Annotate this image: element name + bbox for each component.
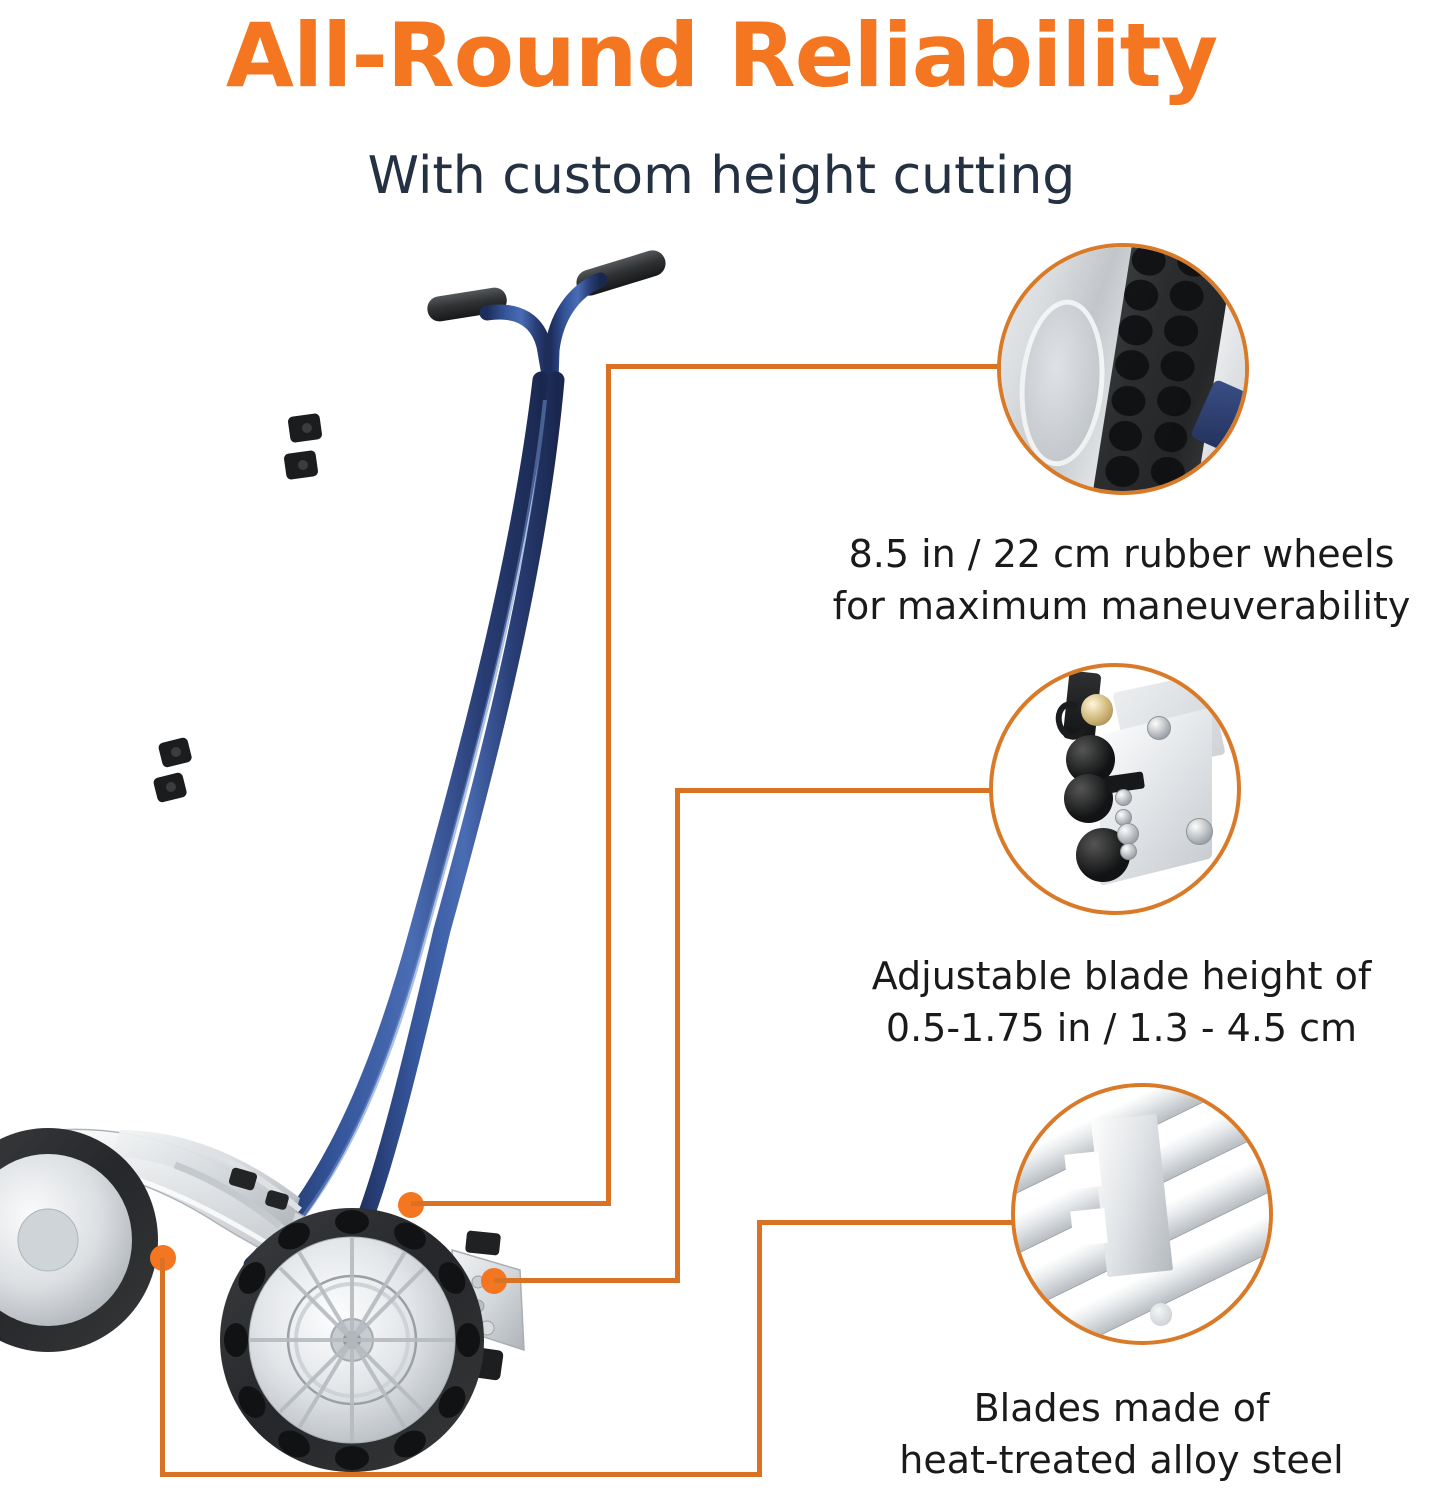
leader-line-steel-v2 [757, 1220, 762, 1477]
callout-text-alloy-steel: Blades made of heat-treated alloy steel [800, 1382, 1443, 1486]
leader-line-steel-h2 [757, 1220, 1019, 1225]
callout-steel-line1: Blades made of [800, 1382, 1443, 1434]
leader-line-wheels-v [606, 364, 611, 1204]
handle-assembly [153, 247, 669, 1265]
leader-line-blade-h2 [675, 788, 1000, 793]
callout-text-wheels: 8.5 in / 22 cm rubber wheels for maximum… [800, 528, 1443, 632]
right-wheel [220, 1208, 484, 1472]
inset-reel-blades [1011, 1083, 1273, 1345]
callout-blade-line2: 0.5-1.75 in / 1.3 - 4.5 cm [800, 1002, 1443, 1054]
callout-text-blade-height: Adjustable blade height of 0.5-1.75 in /… [800, 950, 1443, 1054]
page-subtitle: With custom height cutting [0, 140, 1443, 212]
reel-rivet [1150, 1303, 1173, 1326]
product-illustration [0, 230, 830, 1500]
page-title: All-Round Reliability [0, 4, 1443, 108]
leader-line-blade-v [675, 788, 680, 1283]
callout-wheels-line2: for maximum maneuverability [800, 580, 1443, 632]
inset-rubber-wheel-tread [997, 243, 1249, 495]
adjuster-bolt-6 [1147, 716, 1171, 740]
callout-steel-line2: heat-treated alloy steel [800, 1434, 1443, 1486]
leader-line-wheels-h2 [606, 364, 1004, 369]
adjuster-brass-nut [1081, 694, 1113, 726]
infographic-canvas: All-Round Reliability With custom height… [0, 0, 1443, 1500]
adjuster-bolt-4 [1120, 843, 1137, 860]
leader-line-steel-h1 [160, 1472, 762, 1477]
adjuster-bolt-5 [1186, 818, 1213, 845]
leader-line-blade-h1 [494, 1278, 680, 1283]
leader-line-steel-v1 [160, 1258, 165, 1477]
inset-blade-height-adjuster [989, 663, 1241, 915]
leader-line-wheels-h1 [411, 1201, 611, 1206]
callout-blade-line1: Adjustable blade height of [800, 950, 1443, 1002]
callout-wheels-line1: 8.5 in / 22 cm rubber wheels [800, 528, 1443, 580]
